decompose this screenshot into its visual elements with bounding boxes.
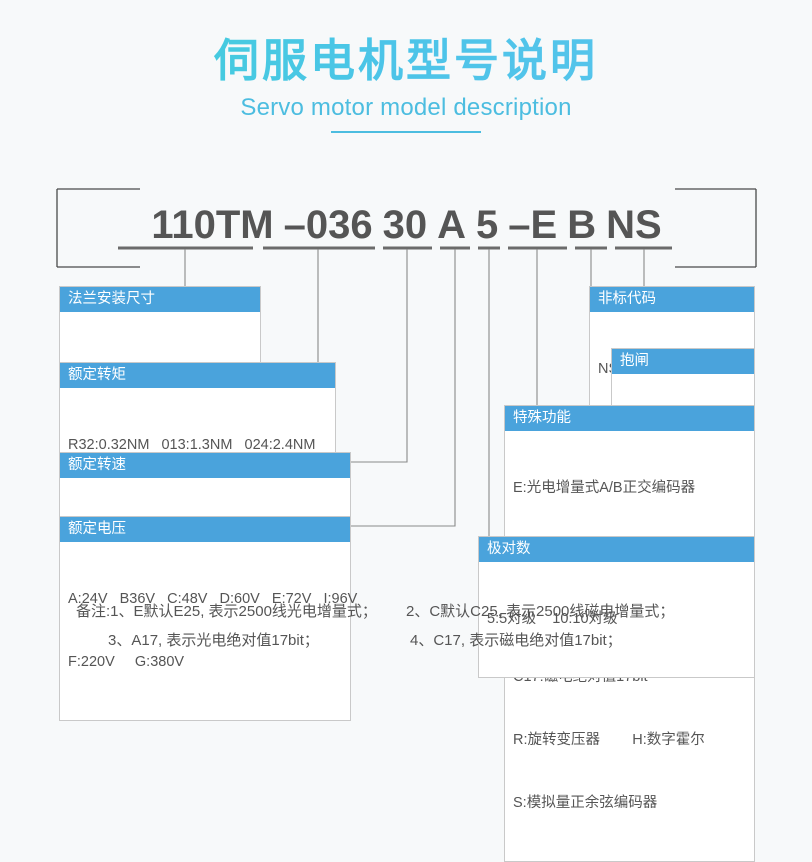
callout-flange-size-title: 法兰安装尺寸 xyxy=(60,287,260,312)
footnote-4: 4、C17, 表示磁电绝对值17bit； xyxy=(406,627,736,656)
footnote-row: 备注:1、E默认E25, 表示2500线光电增量式； 2、C默认C25, 表示2… xyxy=(0,598,812,627)
model-code-row: 110TM –036 30 A 5 –E B NS xyxy=(57,189,756,267)
callout-line: R:旋转变压器 H:数字霍尔 xyxy=(513,730,746,751)
callout-brake-title: 抱闸 xyxy=(612,349,754,374)
model-segment-torque: –036 xyxy=(279,205,378,251)
model-segment-speed: 30 xyxy=(378,205,433,251)
model-segment-flange: 110TM xyxy=(146,205,278,251)
footnotes: 备注:1、E默认E25, 表示2500线光电增量式； 2、C默认C25, 表示2… xyxy=(0,598,812,655)
footnote-row: 3、A17, 表示光电绝对值17bit； 4、C17, 表示磁电绝对值17bit… xyxy=(0,627,812,656)
model-segment-voltage: A xyxy=(432,205,471,251)
model-segment-poles: 5 xyxy=(471,205,503,251)
callout-rated-torque-title: 额定转矩 xyxy=(60,363,335,388)
model-segment-special: –E xyxy=(503,205,562,251)
footnote-2: 2、C默认C25, 表示2500线磁电增量式； xyxy=(406,598,736,627)
callout-nonstandard-code-title: 非标代码 xyxy=(590,287,754,312)
model-segment-brake: B xyxy=(562,205,601,251)
callout-line: F:220V G:380V xyxy=(68,652,342,673)
model-code-frame: 110TM –036 30 A 5 –E B NS xyxy=(57,189,756,267)
footnote-1: 备注:1、E默认E25, 表示2500线光电增量式； xyxy=(76,598,406,627)
callout-special-function-title: 特殊功能 xyxy=(505,406,754,431)
footnote-3: 3、A17, 表示光电绝对值17bit； xyxy=(76,627,406,656)
callout-rated-speed-title: 额定转速 xyxy=(60,453,350,478)
callout-pole-pairs-title: 极对数 xyxy=(479,537,754,562)
model-segment-nonstandard: NS xyxy=(601,205,667,251)
callout-line: E:光电增量式A/B正交编码器 xyxy=(513,478,746,499)
callout-line: S:模拟量正余弦编码器 xyxy=(513,793,746,814)
callout-rated-voltage-title: 额定电压 xyxy=(60,517,350,542)
